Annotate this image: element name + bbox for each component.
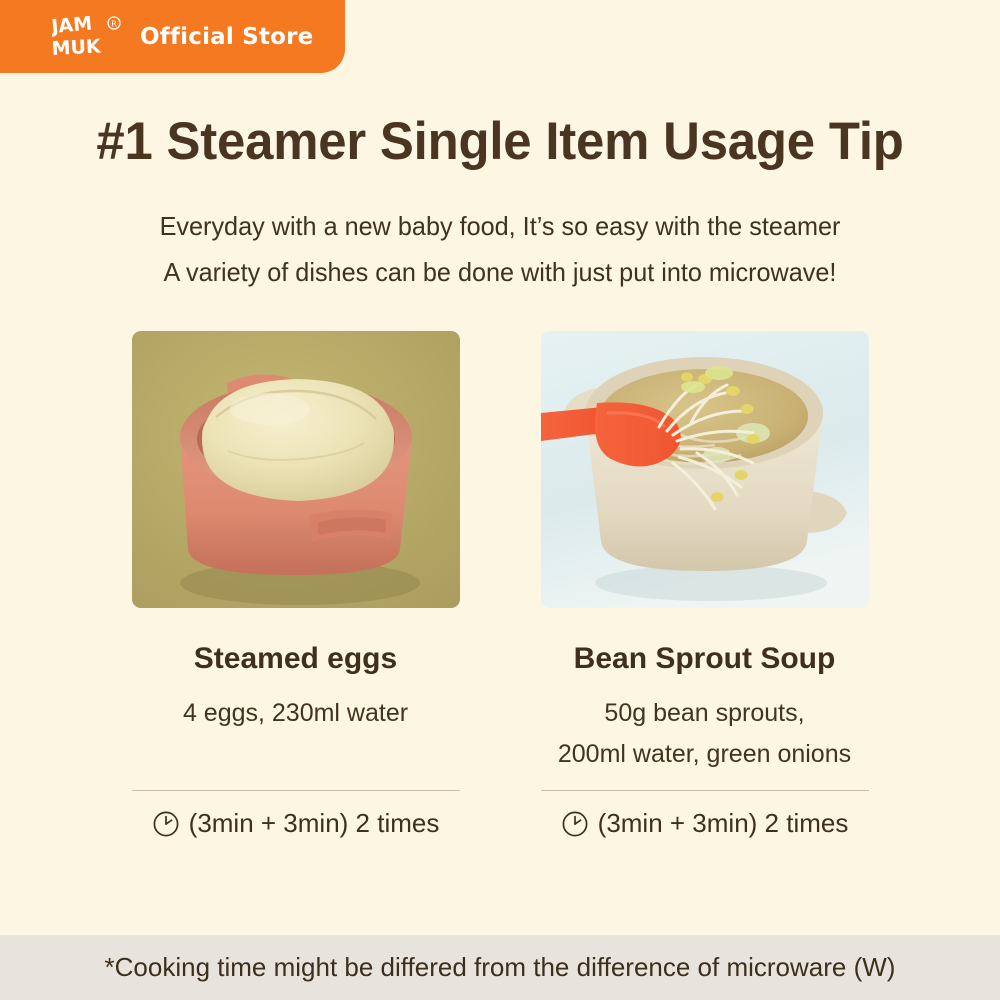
divider [132,790,460,791]
timing-section: (3min + 3min) 2 times [132,790,460,839]
store-label: Official Store [140,24,313,50]
promo-page: JAM MUK R Official Store #1 Steamer Sing… [0,0,1000,1000]
dish-ingredients: 4 eggs, 230ml water [132,693,460,734]
recipe-card-list: Steamed eggs 4 eggs, 230ml water (3min +… [0,331,1000,839]
footer-disclaimer: *Cooking time might be differed from the… [0,935,1000,1000]
bean-sprout-soup-photo [541,331,869,608]
dish-ingredients: 50g bean sprouts, 200ml water, green oni… [541,693,869,775]
ingredient-line: 200ml water, green onions [541,734,869,775]
divider [541,790,869,791]
clock-icon [561,810,589,838]
recipe-card-steamed-eggs: Steamed eggs 4 eggs, 230ml water (3min +… [132,331,460,839]
svg-text:JAM: JAM [52,14,93,38]
steamed-eggs-photo [132,331,460,608]
dish-name: Bean Sprout Soup [541,642,869,676]
cooking-time: (3min + 3min) 2 times [132,808,460,839]
official-store-badge: JAM MUK R Official Store [0,0,345,73]
clock-icon [152,810,180,838]
timing-section: (3min + 3min) 2 times [541,790,869,839]
dish-name: Steamed eggs [132,642,460,676]
ingredient-line: 50g bean sprouts, [541,693,869,734]
cooking-time-label: (3min + 3min) 2 times [598,808,849,839]
page-title: #1 Steamer Single Item Usage Tip [20,111,980,172]
svg-text:MUK: MUK [52,35,103,60]
jammuk-logo: JAM MUK R [52,14,126,60]
ingredient-line: 4 eggs, 230ml water [132,693,460,734]
subtitle-line-2: A variety of dishes can be done with jus… [15,249,985,295]
subtitle-line-1: Everyday with a new baby food, It’s so e… [15,203,985,249]
recipe-card-bean-sprout-soup: Bean Sprout Soup 50g bean sprouts, 200ml… [541,331,869,839]
page-subtitle: Everyday with a new baby food, It’s so e… [15,203,985,295]
cooking-time: (3min + 3min) 2 times [541,808,869,839]
cooking-time-label: (3min + 3min) 2 times [189,808,440,839]
svg-text:R: R [111,19,117,28]
